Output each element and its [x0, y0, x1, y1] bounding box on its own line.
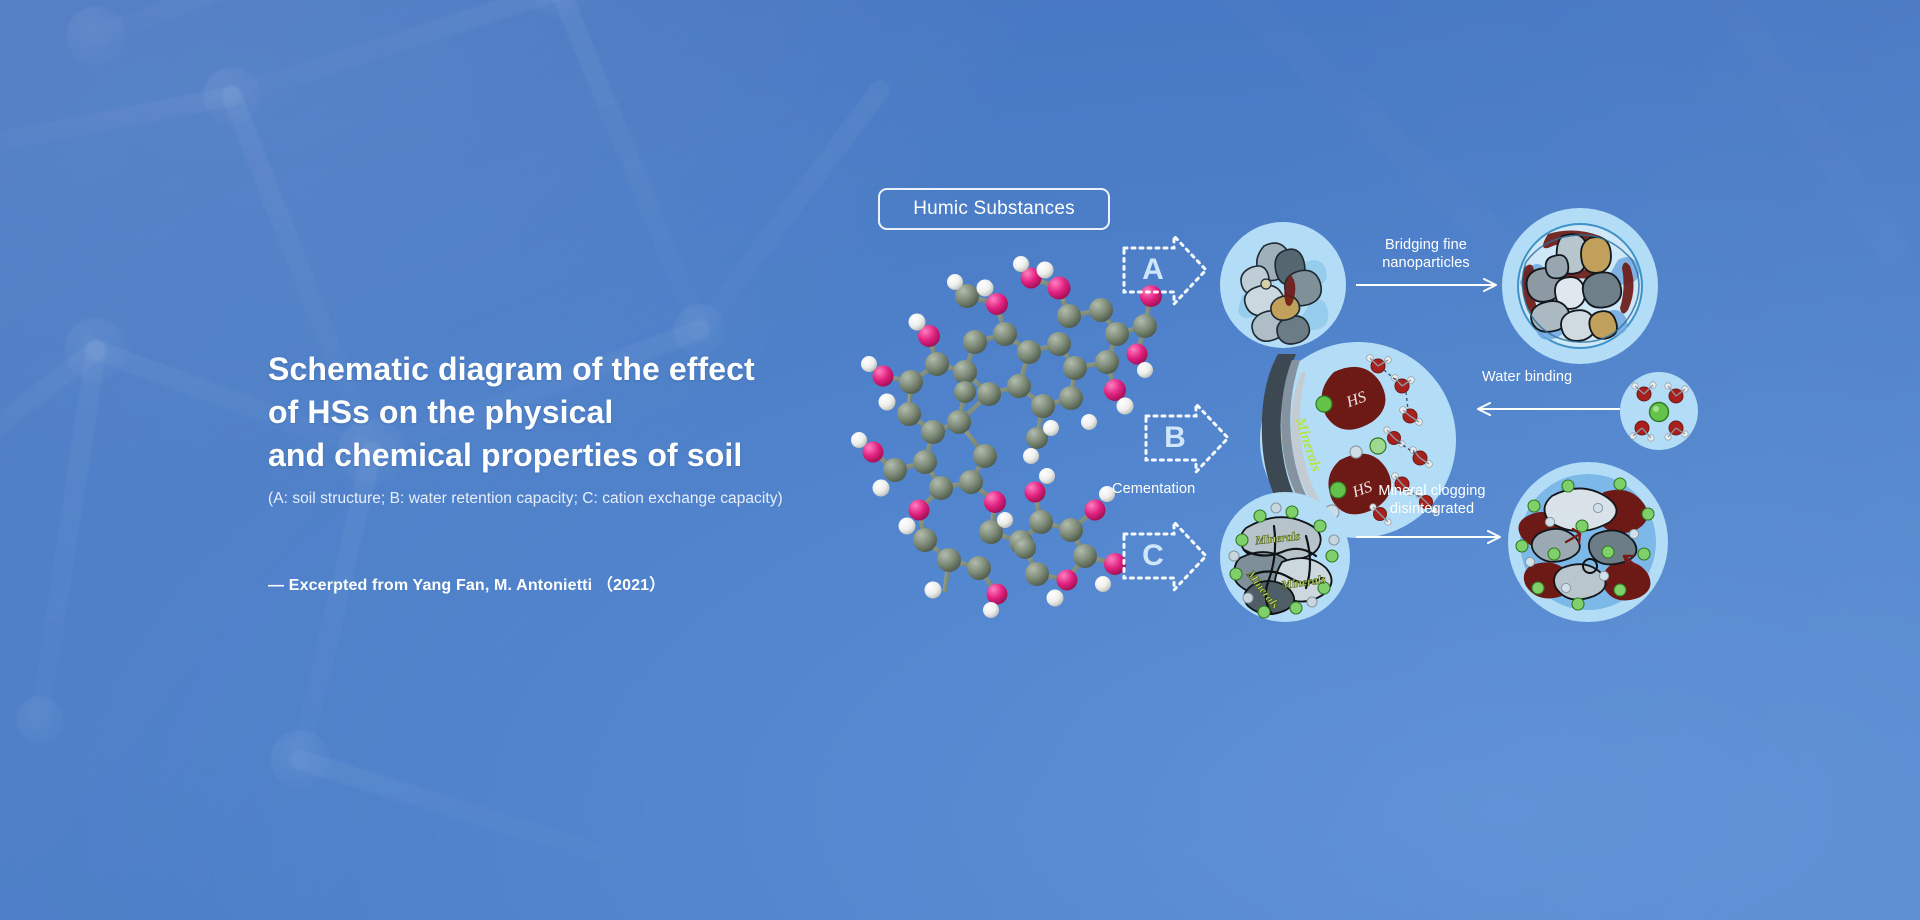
step-badge-a: A	[1120, 232, 1210, 308]
mineral-clogging-disintegrated-illustration	[1508, 462, 1668, 622]
step-badge-b: B	[1142, 400, 1232, 476]
flow-label-c: Mineral clogging disintegrated	[1352, 482, 1512, 518]
poster-canvas: Schematic diagram of the effect of HSs o…	[0, 0, 1920, 920]
aggregated-particles-illustration	[1502, 208, 1658, 364]
attribution-line: — Excerpted from Yang Fan, M. Antonietti…	[268, 571, 908, 595]
flow-arrow-b-icon	[1468, 402, 1620, 416]
page-title-line-1: Schematic diagram of the effect	[268, 348, 908, 391]
step-badge-c-letter: C	[1120, 518, 1210, 594]
humic-substances-label: Humic Substances	[878, 188, 1110, 230]
page-title-line-2: of HSs on the physical	[268, 391, 908, 434]
humic-substance-molecule-illustration	[845, 230, 1165, 630]
dispersed-particles-illustration	[1220, 222, 1346, 348]
left-text-block: Schematic diagram of the effect of HSs o…	[268, 348, 908, 595]
step-badge-b-letter: B	[1142, 400, 1232, 476]
page-title: Schematic diagram of the effect of HSs o…	[268, 348, 908, 477]
circle-c-cemented-minerals: Minerals Minerals Minerals	[1220, 492, 1350, 622]
flow-label-b: Water binding	[1482, 368, 1622, 386]
attribution-text: — Excerpted from Yang Fan, M. Antonietti	[268, 577, 592, 594]
attribution-year: （2021）	[597, 577, 666, 594]
page-subtitle: (A: soil structure; B: water retention c…	[268, 489, 908, 509]
flow-arrow-c-icon	[1356, 530, 1508, 544]
humic-substances-label-text: Humic Substances	[913, 198, 1075, 220]
cementation-illustration: Minerals Minerals Minerals	[1220, 492, 1350, 622]
flow-label-a: Bridging fine nanoparticles	[1356, 236, 1496, 272]
step-badge-a-letter: A	[1120, 232, 1210, 308]
circle-c-disintegrated	[1508, 462, 1668, 622]
hydrated-cation-illustration	[1620, 372, 1698, 450]
circle-a-after	[1502, 208, 1658, 364]
page-title-line-3: and chemical properties of soil	[268, 434, 908, 477]
step-badge-c: C	[1120, 518, 1210, 594]
diagram-panel: A	[1120, 150, 1920, 770]
flow-arrow-a-icon	[1356, 278, 1504, 292]
circle-a-before	[1220, 222, 1346, 348]
circle-b-hydrated-cation	[1620, 372, 1698, 450]
